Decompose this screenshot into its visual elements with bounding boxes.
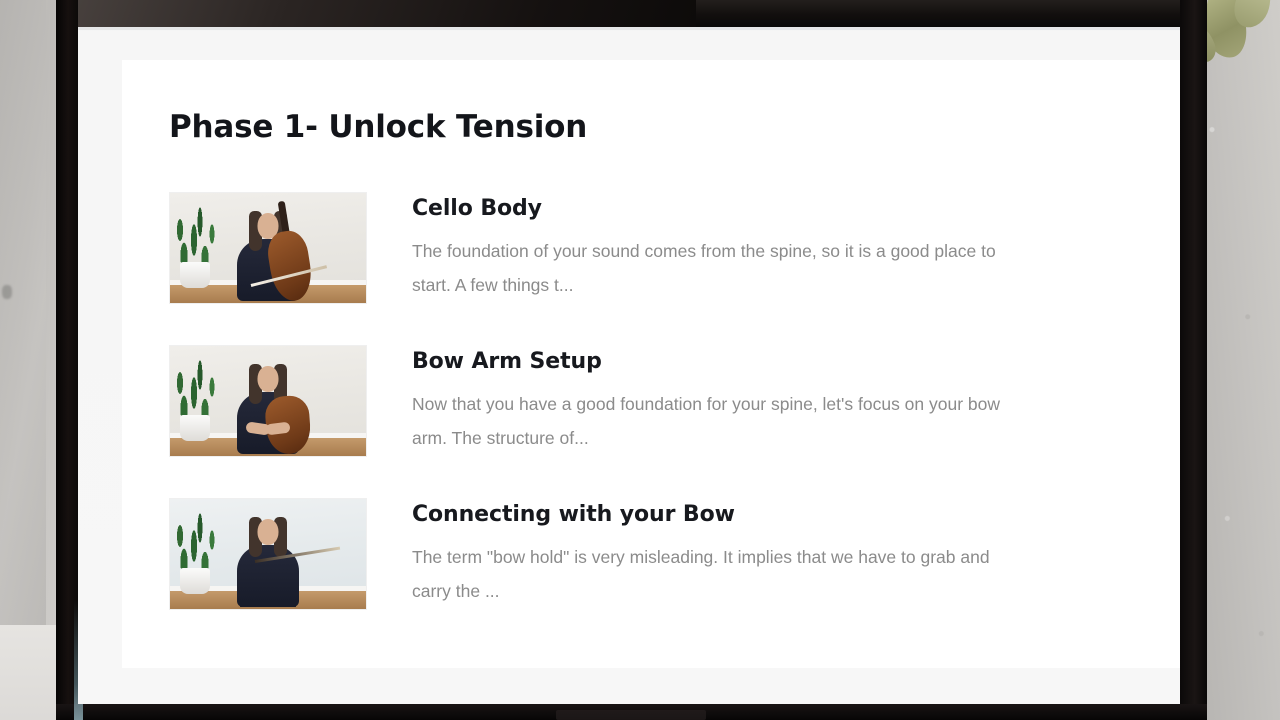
right-wall	[1195, 0, 1280, 720]
monitor-frame: Phase 1- Unlock Tension	[56, 0, 1207, 720]
lesson-description: The foundation of your sound comes from …	[412, 234, 1032, 302]
cellist-figure	[231, 209, 305, 301]
lesson-description: The term "bow hold" is very misleading. …	[412, 540, 1032, 608]
room-scene: Phase 1- Unlock Tension	[0, 0, 1280, 720]
left-shelf	[0, 625, 60, 720]
wall-smudge	[2, 285, 12, 299]
page-top-hairline	[78, 27, 1180, 30]
bezel-top	[56, 0, 1207, 27]
lesson-title: Connecting with your Bow	[412, 502, 1032, 527]
lesson-title: Bow Arm Setup	[412, 349, 1032, 374]
lesson-text: Connecting with your Bow The term "bow h…	[412, 498, 1032, 608]
lesson-thumbnail[interactable]	[169, 192, 367, 304]
list-item[interactable]: Bow Arm Setup Now that you have a good f…	[169, 345, 1169, 498]
bezel-sheen	[56, 0, 696, 27]
bezel-right	[1180, 0, 1207, 720]
page-title: Phase 1- Unlock Tension	[169, 109, 587, 145]
plant-pot-icon	[180, 568, 210, 594]
cellist-figure	[231, 362, 305, 454]
lesson-list: Cello Body The foundation of your sound …	[169, 192, 1169, 651]
lesson-text: Bow Arm Setup Now that you have a good f…	[412, 345, 1032, 455]
figure-head	[258, 519, 279, 545]
list-item[interactable]: Connecting with your Bow The term "bow h…	[169, 498, 1169, 651]
screen-content: Phase 1- Unlock Tension	[78, 27, 1180, 704]
bezel-notch	[556, 710, 706, 720]
wall-texture	[1195, 0, 1280, 720]
plant-pot-icon	[180, 262, 210, 288]
plant-pot-icon	[180, 415, 210, 441]
lesson-description: Now that you have a good foundation for …	[412, 387, 1032, 455]
list-item[interactable]: Cello Body The foundation of your sound …	[169, 192, 1169, 345]
lesson-text: Cello Body The foundation of your sound …	[412, 192, 1032, 302]
cellist-figure	[231, 515, 305, 607]
lesson-thumbnail[interactable]	[169, 345, 367, 457]
left-wall-panel	[0, 0, 46, 650]
lesson-title: Cello Body	[412, 196, 1032, 221]
figure-head	[258, 366, 279, 392]
left-wall	[0, 0, 60, 720]
bezel-bottom	[56, 704, 1207, 720]
course-card: Phase 1- Unlock Tension	[122, 60, 1180, 668]
lesson-thumbnail[interactable]	[169, 498, 367, 610]
